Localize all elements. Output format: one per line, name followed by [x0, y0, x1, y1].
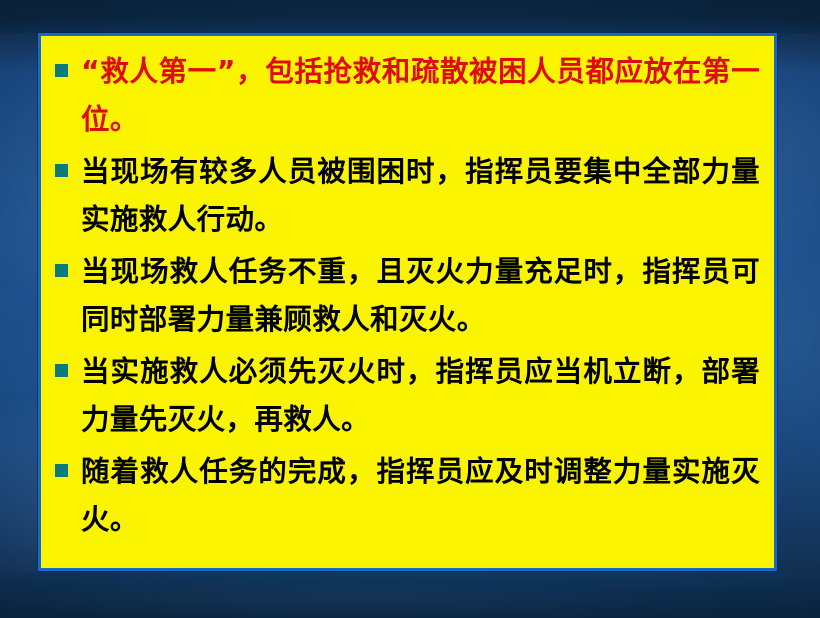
list-item: 当实施救人必须先灭火时，指挥员应当机立断，部署力量先灭火，再救人。: [55, 348, 760, 444]
bullet-text: 当现场救人任务不重，且灭火力量充足时，指挥员可同时部署力量兼顾救人和灭火。: [81, 248, 760, 344]
slide-bottom-band: [0, 572, 820, 618]
bullet-text: “救人第一”，包括抢救和疏散被困人员都应放在第一位。: [81, 48, 760, 144]
square-bullet-icon: [55, 164, 68, 177]
square-bullet-icon: [55, 264, 68, 277]
bullet-text: 当实施救人必须先灭火时，指挥员应当机立断，部署力量先灭火，再救人。: [81, 348, 760, 444]
list-item: 随着救人任务的完成，指挥员应及时调整力量实施灭火。: [55, 448, 760, 544]
list-item: “救人第一”，包括抢救和疏散被困人员都应放在第一位。: [55, 48, 760, 144]
square-bullet-icon: [55, 464, 68, 477]
square-bullet-icon: [55, 364, 68, 377]
presentation-slide: “救人第一”，包括抢救和疏散被困人员都应放在第一位。 当现场有较多人员被围困时，…: [0, 0, 820, 618]
content-box: “救人第一”，包括抢救和疏散被困人员都应放在第一位。 当现场有较多人员被围困时，…: [38, 33, 777, 571]
bullet-text: 随着救人任务的完成，指挥员应及时调整力量实施灭火。: [81, 448, 760, 544]
bullet-text: 当现场有较多人员被围困时，指挥员要集中全部力量实施救人行动。: [81, 148, 760, 244]
slide-top-band: [0, 0, 820, 33]
list-item: 当现场救人任务不重，且灭火力量充足时，指挥员可同时部署力量兼顾救人和灭火。: [55, 248, 760, 344]
square-bullet-icon: [55, 64, 68, 77]
list-item: 当现场有较多人员被围困时，指挥员要集中全部力量实施救人行动。: [55, 148, 760, 244]
bullet-list: “救人第一”，包括抢救和疏散被困人员都应放在第一位。 当现场有较多人员被围困时，…: [41, 36, 774, 544]
